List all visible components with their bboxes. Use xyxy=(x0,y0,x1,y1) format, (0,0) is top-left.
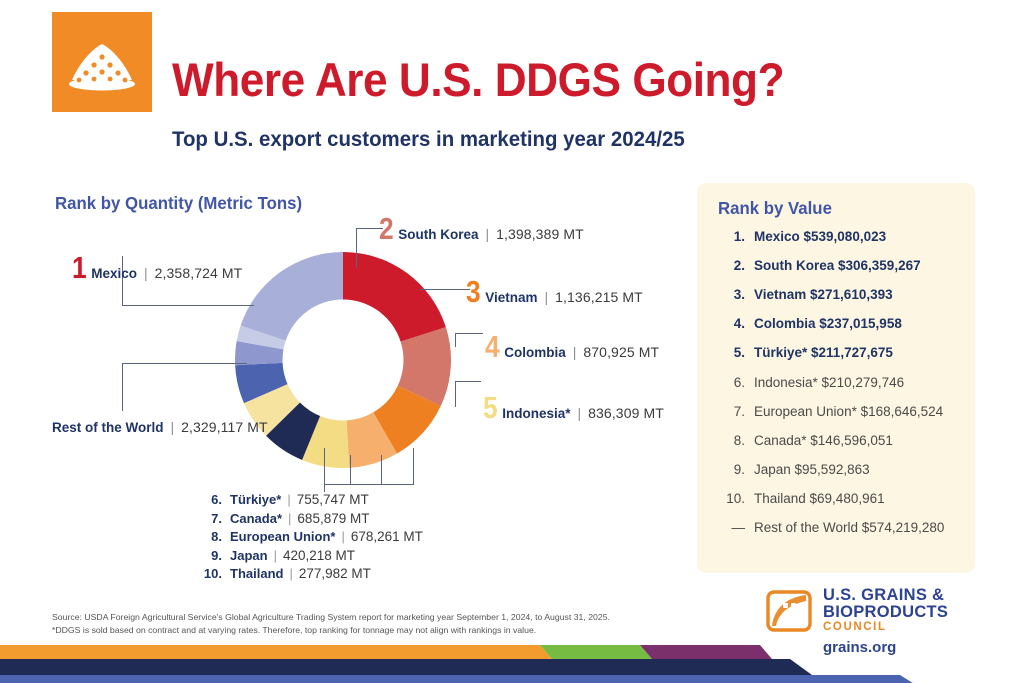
callout-separator: | xyxy=(573,344,577,360)
list-item-number: 7. xyxy=(196,511,222,526)
list-item-separator: | xyxy=(341,529,344,544)
source-line-2: *DDGS is sold based on contract and at v… xyxy=(52,624,610,637)
band-blue xyxy=(0,675,924,683)
list-item-value: 678,261 MT xyxy=(351,529,423,544)
council-name-line2: BIOPRODUCTS xyxy=(823,603,948,622)
list-item-number: 9. xyxy=(196,548,222,563)
callout-separator: | xyxy=(545,289,549,305)
quantity-section-heading: Rank by Quantity (Metric Tons) xyxy=(55,193,302,214)
value-row-text: Colombia $237,015,958 xyxy=(754,316,902,331)
callout-separator: | xyxy=(171,419,175,435)
leader-line-mexico-h xyxy=(122,305,254,306)
list-item: 6. Türkiye* | 755,747 MT xyxy=(196,492,423,507)
callout-country: Vietnam xyxy=(485,290,537,305)
value-row: 8. Canada* $146,596,051 xyxy=(721,433,893,448)
callout-separator: | xyxy=(486,226,490,242)
leader-line-colombia-h xyxy=(455,333,483,334)
callout-rank-number: 1 xyxy=(72,252,87,283)
header-banner: Where Are U.S. DDGS Going? Top U.S. expo… xyxy=(0,0,1024,170)
list-item-separator: | xyxy=(289,566,292,581)
quantity-bottom-list: 6. Türkiye* | 755,747 MT 7. Canada* | 68… xyxy=(196,492,423,585)
list-item-number: 8. xyxy=(196,529,222,544)
value-row-number: 10. xyxy=(721,491,745,506)
value-row-number: 3. xyxy=(721,287,745,302)
value-row: — Rest of the World $574,219,280 xyxy=(721,520,944,535)
grain-pile-icon xyxy=(52,12,152,112)
value-row: 1. Mexico $539,080,023 xyxy=(721,229,886,244)
leader-comb-stem xyxy=(324,484,325,492)
callout-rank-2: 2 South Korea | 1,398,389 MT xyxy=(379,213,584,244)
leader-line-korea xyxy=(356,228,357,268)
callout-country: Mexico xyxy=(91,266,137,281)
value-row: 4. Colombia $237,015,958 xyxy=(721,316,902,331)
callout-rest-of-world: Rest of the World | 2,329,117 MT xyxy=(52,419,268,435)
list-item-country: Canada* xyxy=(230,511,282,526)
list-item-value: 277,982 MT xyxy=(299,566,371,581)
grain-logo-tile xyxy=(52,12,152,112)
list-item-separator: | xyxy=(287,492,290,507)
band-orange xyxy=(0,645,552,659)
callout-value: 2,358,724 MT xyxy=(155,265,243,281)
band-navy xyxy=(0,659,812,675)
callout-country: Rest of the World xyxy=(52,420,164,435)
source-note: Source: USDA Foreign Agricultural Servic… xyxy=(52,611,610,638)
leader-comb-4 xyxy=(413,448,414,484)
list-item: 8. European Union* | 678,261 MT xyxy=(196,529,423,544)
callout-rank-5: 5 Indonesia* | 836,309 MT xyxy=(483,392,664,423)
value-row-text: South Korea $306,359,267 xyxy=(754,258,921,273)
list-item: 10. Thailand | 277,982 MT xyxy=(196,566,423,581)
leader-line-row-h xyxy=(122,363,247,364)
callout-rank-3: 3 Vietnam | 1,136,215 MT xyxy=(466,276,643,307)
list-item-separator: | xyxy=(274,548,277,563)
leader-line-indonesia-h xyxy=(455,381,481,382)
list-item-value: 755,747 MT xyxy=(297,492,369,507)
list-item-country: Thailand xyxy=(230,566,283,581)
value-row-text: Canada* $146,596,051 xyxy=(754,433,893,448)
leader-line-colombia xyxy=(455,333,456,347)
list-item-value: 685,879 MT xyxy=(297,511,369,526)
callout-rank-4: 4 Colombia | 870,925 MT xyxy=(485,331,659,362)
value-row-number: 8. xyxy=(721,433,745,448)
list-item-country: European Union* xyxy=(230,529,335,544)
callout-value: 1,398,389 MT xyxy=(496,226,584,242)
leader-line-vietnam-h xyxy=(420,289,470,290)
leader-comb-1 xyxy=(324,448,325,484)
value-row: 5. Türkiye* $211,727,675 xyxy=(721,345,893,360)
council-name-line3: COUNCIL xyxy=(823,621,887,633)
value-row-text: Indonesia* $210,279,746 xyxy=(754,375,904,390)
callout-rank-number: 3 xyxy=(466,276,481,307)
list-item-number: 10. xyxy=(196,566,222,581)
leader-comb-2 xyxy=(350,455,351,484)
callout-separator: | xyxy=(578,405,582,421)
list-item: 9. Japan | 420,218 MT xyxy=(196,548,423,563)
list-item-value: 420,218 MT xyxy=(283,548,355,563)
leader-comb-3 xyxy=(381,455,382,484)
list-item-number: 6. xyxy=(196,492,222,507)
band-purple xyxy=(640,645,772,659)
value-row-number: 4. xyxy=(721,316,745,331)
callout-rank-1: 1 Mexico | 2,358,724 MT xyxy=(72,252,242,283)
callout-rank-number: 4 xyxy=(485,331,500,362)
value-row-text: Thailand $69,480,961 xyxy=(754,491,885,506)
callout-country: Colombia xyxy=(504,345,566,360)
value-row: 9. Japan $95,592,863 xyxy=(721,462,870,477)
value-row-number: 5. xyxy=(721,345,745,360)
value-row-number: 2. xyxy=(721,258,745,273)
value-row: 3. Vietnam $271,610,393 xyxy=(721,287,893,302)
donut-segment xyxy=(343,252,446,342)
callout-value: 836,309 MT xyxy=(588,405,664,421)
value-row-text: Türkiye* $211,727,675 xyxy=(754,345,893,360)
value-row: 6. Indonesia* $210,279,746 xyxy=(721,375,904,390)
list-item-country: Türkiye* xyxy=(230,492,281,507)
callout-rank-number: 5 xyxy=(483,392,498,423)
donut-chart xyxy=(233,250,453,470)
value-row-number: — xyxy=(721,520,745,535)
value-row-text: Japan $95,592,863 xyxy=(754,462,870,477)
callout-separator: | xyxy=(144,265,148,281)
callout-rank-number: 2 xyxy=(379,213,394,244)
callout-value: 1,136,215 MT xyxy=(555,289,643,305)
value-row-text: European Union* $168,646,524 xyxy=(754,404,943,419)
value-row-number: 9. xyxy=(721,462,745,477)
page-subtitle: Top U.S. export customers in marketing y… xyxy=(172,127,685,152)
list-item-country: Japan xyxy=(230,548,268,563)
callout-country: Indonesia* xyxy=(502,406,570,421)
value-row: 10. Thailand $69,480,961 xyxy=(721,491,885,506)
value-row-text: Rest of the World $574,219,280 xyxy=(754,520,944,535)
footer-color-bands xyxy=(0,645,1024,683)
list-item-separator: | xyxy=(288,511,291,526)
value-row-number: 1. xyxy=(721,229,745,244)
value-row: 7. European Union* $168,646,524 xyxy=(721,404,943,419)
callout-value: 870,925 MT xyxy=(583,344,659,360)
callout-country: South Korea xyxy=(398,227,478,242)
callout-value: 2,329,117 MT xyxy=(181,419,268,435)
value-row: 2. South Korea $306,359,267 xyxy=(721,258,921,273)
council-mark-icon xyxy=(766,588,812,640)
leader-comb-h xyxy=(324,484,414,485)
value-row-text: Vietnam $271,610,393 xyxy=(754,287,893,302)
donut-segment xyxy=(241,252,343,341)
leader-line-indonesia xyxy=(455,381,456,407)
list-item: 7. Canada* | 685,879 MT xyxy=(196,511,423,526)
value-row-number: 6. xyxy=(721,375,745,390)
leader-line-row xyxy=(122,363,123,411)
page-title: Where Are U.S. DDGS Going? xyxy=(172,52,784,107)
band-green xyxy=(540,645,652,659)
value-row-text: Mexico $539,080,023 xyxy=(754,229,886,244)
value-row-number: 7. xyxy=(721,404,745,419)
source-line-1: Source: USDA Foreign Agricultural Servic… xyxy=(52,611,610,624)
value-section-heading: Rank by Value xyxy=(718,198,832,219)
